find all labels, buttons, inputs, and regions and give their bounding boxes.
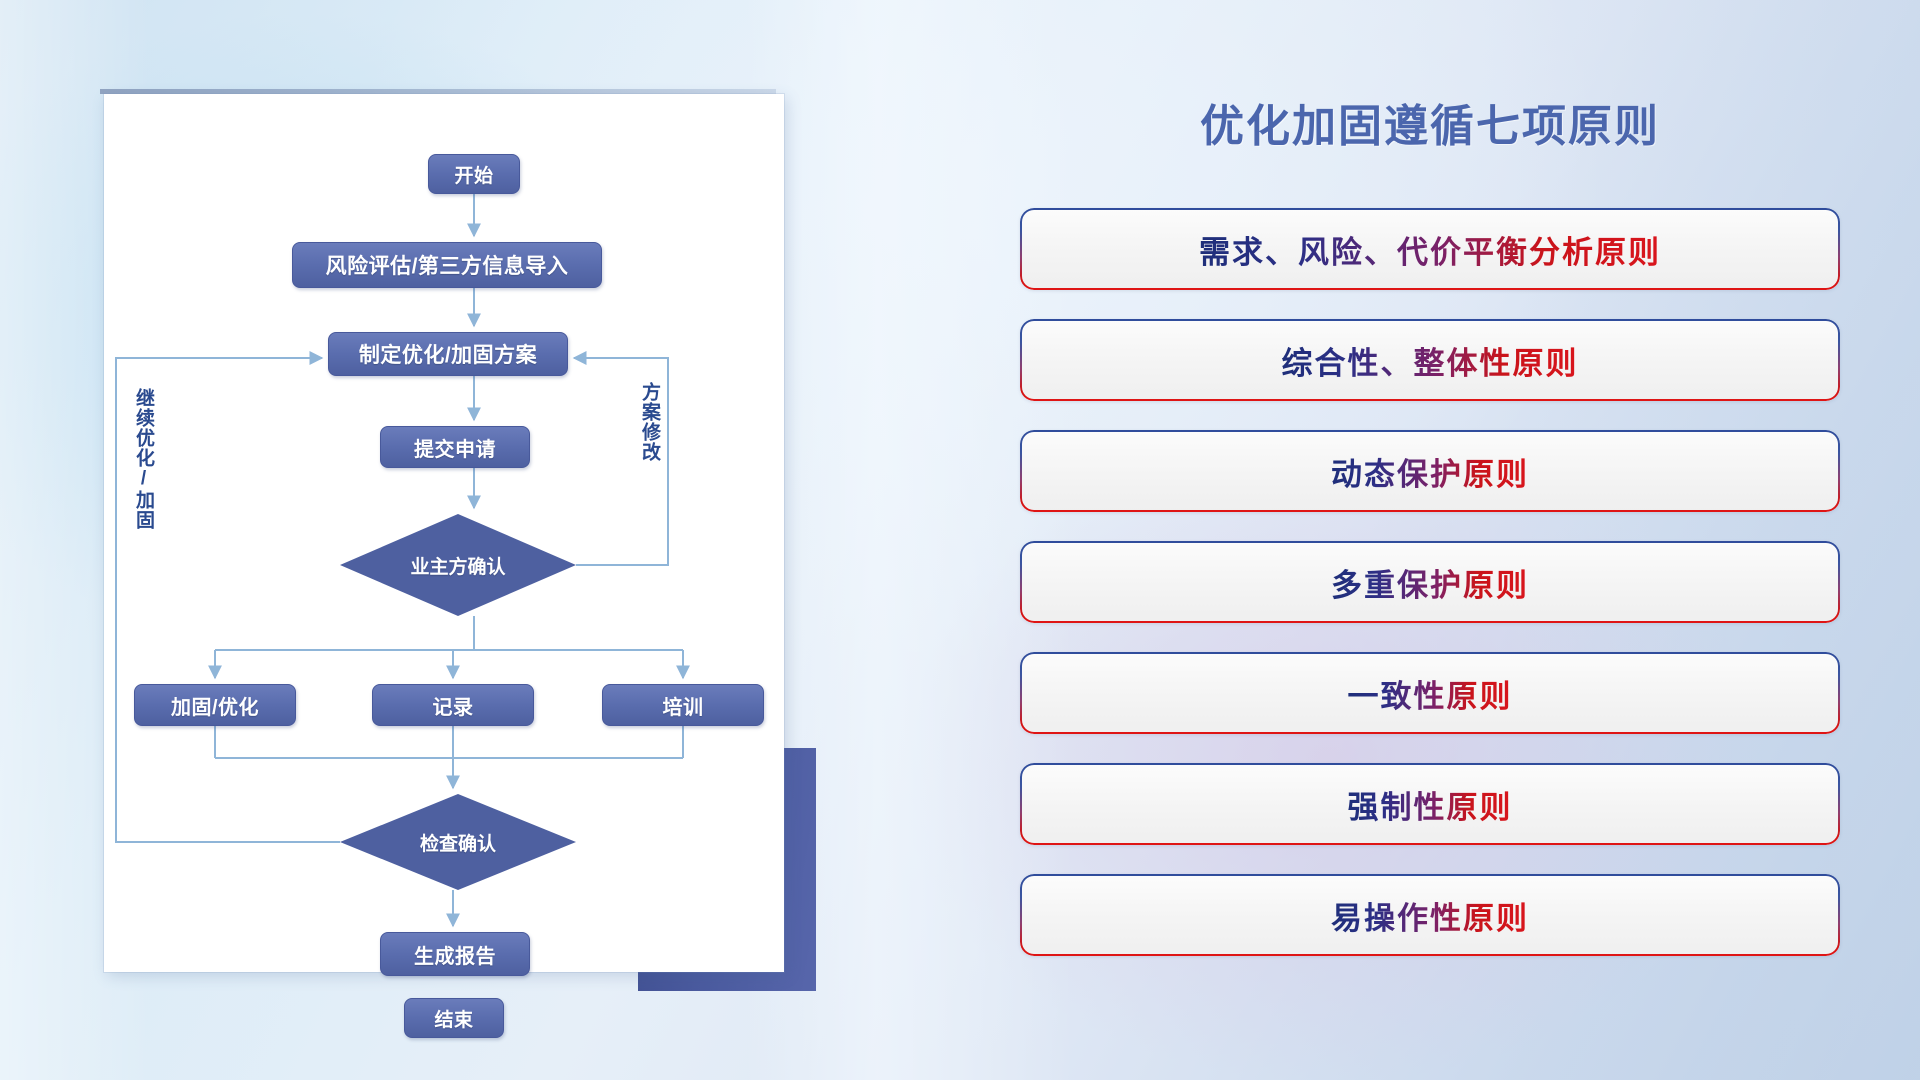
principle-label: 一致性原则 — [1348, 671, 1513, 716]
principles-panel: 优化加固遵循七项原则 需求、风险、代价平衡分析原则 综合性、整体性原则 动态保护… — [1020, 90, 1840, 1010]
flow-node-label: 提交申请 — [414, 433, 496, 462]
principle-label: 易操作性原则 — [1331, 893, 1529, 938]
principles-title: 优化加固遵循七项原则 — [1020, 90, 1840, 154]
flow-node-label: 风险评估/第三方信息导入 — [326, 250, 569, 280]
flow-node-risk-assessment[interactable]: 风险评估/第三方信息导入 — [292, 242, 602, 288]
principle-card[interactable]: 需求、风险、代价平衡分析原则 — [1020, 208, 1840, 290]
flow-node-start[interactable]: 开始 — [428, 154, 520, 194]
principle-label: 动态保护原则 — [1331, 449, 1529, 494]
flow-node-end[interactable]: 结束 — [404, 998, 504, 1038]
principle-label: 强制性原则 — [1348, 782, 1513, 827]
principle-card[interactable]: 综合性、整体性原则 — [1020, 319, 1840, 401]
flow-edge-label-continue-optimize: 继续优化/加固 — [130, 388, 157, 530]
flow-node-submit-application[interactable]: 提交申请 — [380, 426, 530, 468]
flow-node-label: 培训 — [663, 691, 704, 720]
flow-edge-label-plan-revision: 方案修改 — [636, 382, 663, 462]
flow-node-record[interactable]: 记录 — [372, 684, 534, 726]
flow-node-training[interactable]: 培训 — [602, 684, 764, 726]
principle-card[interactable]: 强制性原则 — [1020, 763, 1840, 845]
principle-card[interactable]: 易操作性原则 — [1020, 874, 1840, 956]
flow-node-make-plan[interactable]: 制定优化/加固方案 — [328, 332, 568, 376]
principle-card[interactable]: 多重保护原则 — [1020, 541, 1840, 623]
flow-node-label: 检查确认 — [420, 829, 496, 856]
flow-node-label: 记录 — [433, 691, 474, 720]
flow-node-label: 开始 — [454, 161, 493, 188]
flow-node-label: 业主方确认 — [410, 552, 505, 579]
flowchart-card: 开始 风险评估/第三方信息导入 制定优化/加固方案 提交申请 业主方确认 加固/… — [104, 94, 784, 972]
principle-label: 多重保护原则 — [1331, 560, 1529, 605]
flow-node-reinforce-optimize[interactable]: 加固/优化 — [134, 684, 296, 726]
principle-label: 需求、风险、代价平衡分析原则 — [1199, 227, 1661, 272]
flow-node-label: 结束 — [434, 1005, 473, 1032]
principles-list: 需求、风险、代价平衡分析原则 综合性、整体性原则 动态保护原则 多重保护原则 一… — [1020, 208, 1840, 985]
slide-root: 开始 风险评估/第三方信息导入 制定优化/加固方案 提交申请 业主方确认 加固/… — [0, 0, 1920, 1080]
flow-node-label: 制定优化/加固方案 — [359, 339, 537, 369]
flow-node-label: 加固/优化 — [171, 691, 259, 720]
principle-card[interactable]: 动态保护原则 — [1020, 430, 1840, 512]
principle-card[interactable]: 一致性原则 — [1020, 652, 1840, 734]
flow-node-generate-report[interactable]: 生成报告 — [380, 932, 530, 976]
principle-label: 综合性、整体性原则 — [1282, 338, 1579, 383]
flow-node-label: 生成报告 — [414, 940, 496, 969]
